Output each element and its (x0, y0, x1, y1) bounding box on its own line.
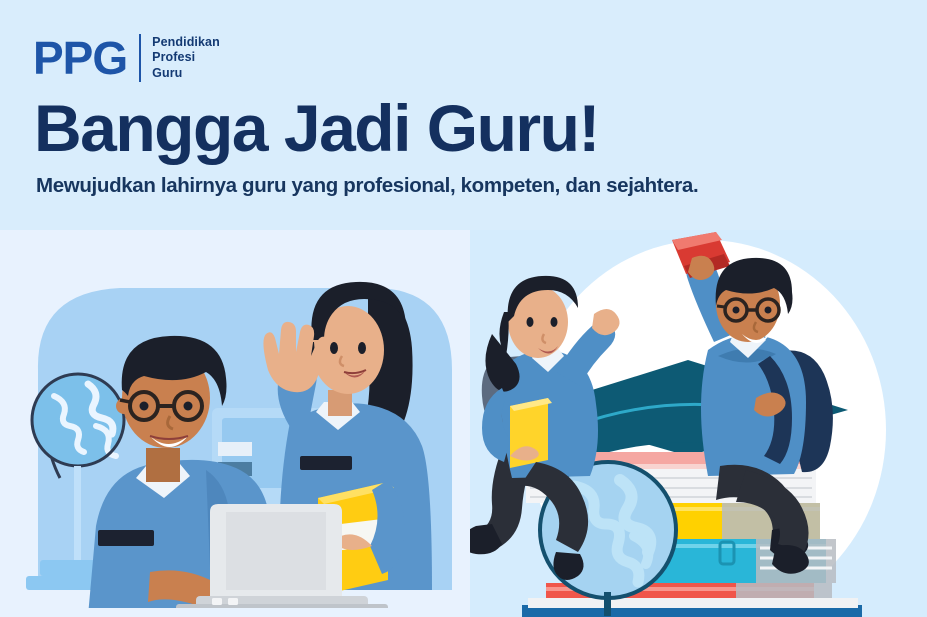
name-tag (98, 530, 154, 546)
illustration-band (0, 230, 927, 617)
page-subtitle: Mewujudkan lahirnya guru yang profesiona… (36, 174, 698, 198)
two-teachers-at-laptop-illustration (0, 230, 470, 617)
logo-expansion-line-3: Guru (152, 66, 220, 82)
ppg-promo-poster: PPG Pendidikan Profesi Guru Bangga Jadi … (0, 0, 927, 617)
logo-expansion-line-1: Pendidikan (152, 35, 220, 51)
ppg-wordmark: PPG (33, 35, 139, 81)
vertical-divider-icon (139, 34, 141, 82)
name-tag (300, 456, 352, 470)
book-white (528, 598, 858, 608)
logo-expansion-line-2: Profesi (152, 50, 220, 66)
ppg-logo: PPG Pendidikan Profesi Guru (33, 30, 220, 86)
page-title: Bangga Jadi Guru! (34, 92, 599, 164)
logo-expansion-text: Pendidikan Profesi Guru (152, 35, 220, 82)
header-band: PPG Pendidikan Profesi Guru Bangga Jadi … (0, 0, 927, 232)
jumping-students-on-books-illustration (470, 230, 927, 617)
